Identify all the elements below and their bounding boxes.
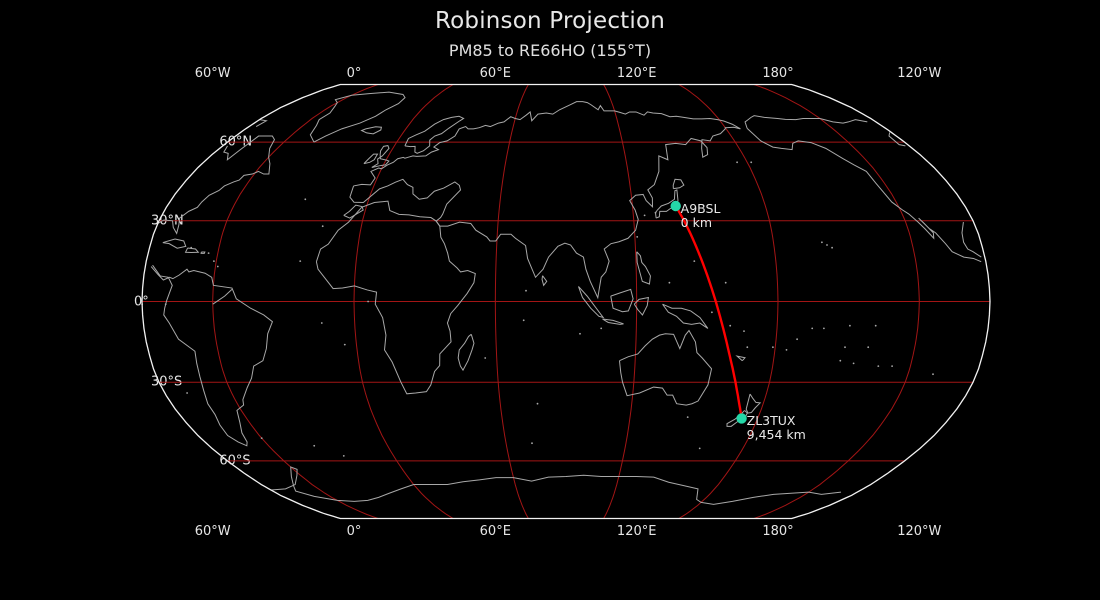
world-map: [0, 0, 1100, 600]
great-circle-path: [676, 206, 742, 418]
marker-group: [671, 201, 747, 424]
marker-distance: 9,454 km: [747, 428, 806, 442]
marker-label-a9bsl: A9BSL0 km: [681, 202, 721, 230]
marker-distance: 0 km: [681, 216, 721, 230]
coastline-group: [141, 92, 981, 504]
map-figure: Robinson Projection PM85 to RE66HO (155°…: [0, 0, 1100, 600]
marker-callsign: ZL3TUX: [747, 414, 806, 428]
marker-dot-zl3tux[interactable]: [736, 413, 746, 423]
marker-label-zl3tux: ZL3TUX9,454 km: [747, 414, 806, 442]
marker-dot-a9bsl[interactable]: [671, 201, 681, 211]
marker-callsign: A9BSL: [681, 202, 721, 216]
